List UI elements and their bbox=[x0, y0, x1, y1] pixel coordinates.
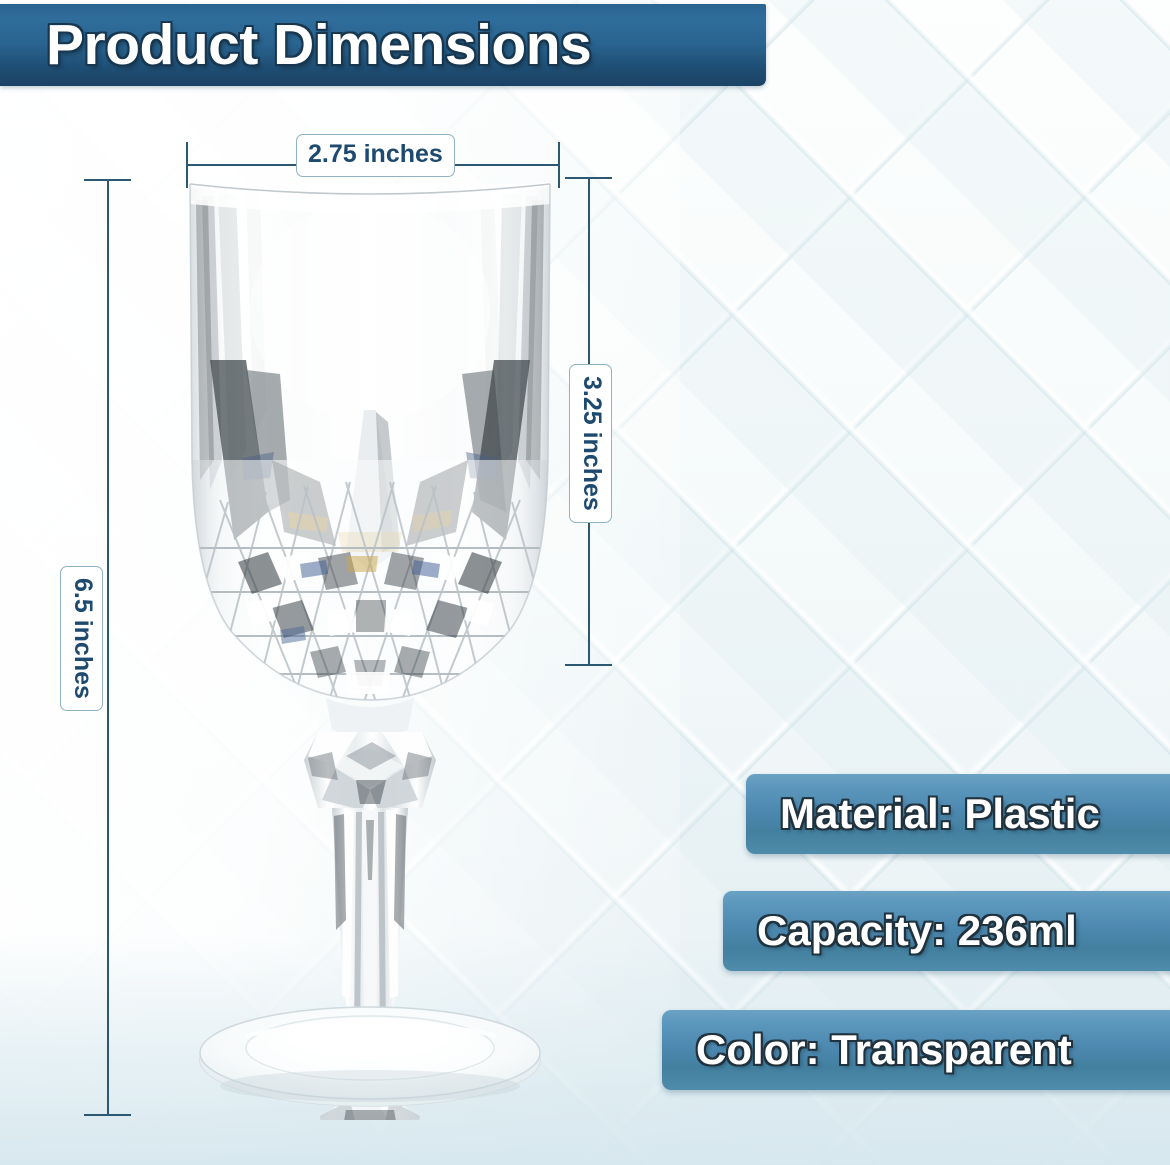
width-dimension-label: 2.75 inches bbox=[296, 134, 455, 177]
width-dimension-cap-left bbox=[186, 142, 188, 188]
spec-label-capacity: Capacity: 236ml bbox=[757, 910, 1077, 952]
total-height-dimension-cap-top bbox=[84, 179, 131, 181]
spec-banner-material: Material: Plastic bbox=[746, 774, 1170, 854]
bowl-height-dimension-label: 3.25 inches bbox=[569, 364, 612, 523]
spec-label-color: Color: Transparent bbox=[696, 1029, 1072, 1071]
spec-banner-color: Color: Transparent bbox=[662, 1010, 1170, 1090]
product-dimensions-infographic: 2.75 inches 3.25 inches 6.5 inches Produ… bbox=[0, 0, 1170, 1165]
glass-base bbox=[200, 1007, 540, 1106]
bowl-height-dimension-cap-top bbox=[565, 177, 612, 179]
spec-label-material: Material: Plastic bbox=[780, 793, 1100, 835]
page-title: Product Dimensions bbox=[46, 17, 591, 74]
width-dimension-cap-right bbox=[558, 142, 560, 188]
total-height-dimension-label: 6.5 inches bbox=[60, 566, 103, 711]
title-banner: Product Dimensions bbox=[0, 4, 766, 86]
product-image-wine-glass bbox=[150, 160, 590, 1120]
glass-bowl bbox=[190, 184, 550, 722]
total-height-dimension-cap-bottom bbox=[84, 1114, 131, 1116]
total-height-dimension-line bbox=[107, 180, 109, 1116]
spec-banner-capacity: Capacity: 236ml bbox=[723, 891, 1170, 971]
bowl-height-dimension-cap-bottom bbox=[565, 664, 612, 666]
